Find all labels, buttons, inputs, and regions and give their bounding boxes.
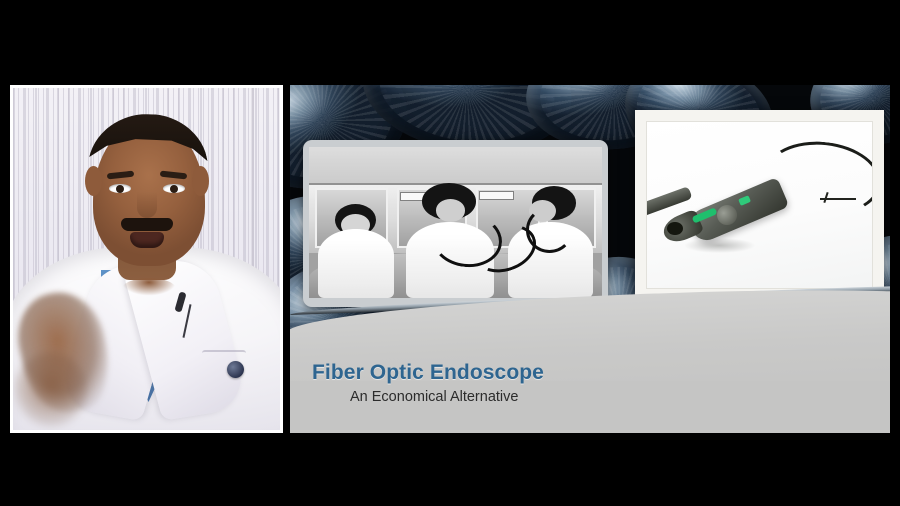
screen: Fiber Optic Endoscope An Economical Alte… xyxy=(0,0,900,506)
presenter-mouth xyxy=(130,232,164,248)
endoscope-photo-image xyxy=(646,121,873,289)
stethoscope-icon xyxy=(526,207,573,252)
presenter-ear-left xyxy=(85,166,102,196)
presenter-hand-blur xyxy=(15,352,87,426)
slide-title: Fiber Optic Endoscope xyxy=(312,361,872,384)
slide-panel[interactable]: Fiber Optic Endoscope An Economical Alte… xyxy=(290,85,890,433)
presenter-video-panel[interactable] xyxy=(10,85,283,433)
presenter-video-frame xyxy=(13,88,280,430)
presenter-nose xyxy=(137,192,157,218)
endoscope-eyepiece-lens xyxy=(667,222,683,235)
presenter-chin xyxy=(122,278,176,300)
presenter-eye-left xyxy=(109,184,131,193)
endoscopy-photo-image xyxy=(309,147,602,298)
photo-figure-body xyxy=(318,229,394,298)
slide-subtitle: An Economical Alternative xyxy=(350,389,872,405)
photo-nurse-figure xyxy=(318,204,394,298)
endoscopy-procedure-photo[interactable] xyxy=(303,140,608,307)
coat-badge xyxy=(227,361,244,378)
presenter-ear-right xyxy=(192,166,209,196)
presenter-moustache xyxy=(121,218,173,231)
photo-wall xyxy=(309,147,602,186)
fiber-optic-endoscope-photo[interactable] xyxy=(635,110,884,300)
presenter-eye-right xyxy=(163,184,185,193)
slide-title-block: Fiber Optic Endoscope An Economical Alte… xyxy=(312,361,872,405)
